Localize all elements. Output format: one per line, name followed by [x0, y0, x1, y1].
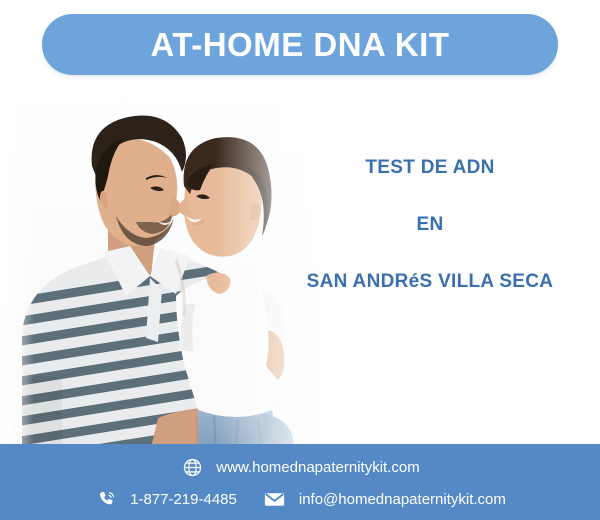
email-label: info@homednapaternitykit.com [299, 492, 506, 507]
banner-title: AT-HOME DNA KIT [151, 28, 450, 61]
headline-line-1: TEST DE ADN [268, 158, 592, 177]
footer-bar: www.homednapaternitykit.com 1-877-219-44… [0, 444, 600, 520]
headline-line-3: SAN ANDRéS VILLA SECA [268, 272, 592, 291]
headline-block: TEST DE ADN EN SAN ANDRéS VILLA SECA [268, 158, 592, 291]
headline-line-2: EN [268, 215, 592, 234]
footer-row-website: www.homednapaternitykit.com [0, 452, 600, 483]
website-label: www.homednapaternitykit.com [216, 460, 419, 475]
contact-website[interactable]: www.homednapaternitykit.com [180, 456, 419, 480]
contact-phone[interactable]: 1-877-219-4485 [94, 488, 237, 512]
globe-icon [180, 456, 204, 480]
poster-canvas: AT-HOME DNA KIT [0, 0, 600, 520]
phone-label: 1-877-219-4485 [130, 492, 237, 507]
envelope-icon [263, 488, 287, 512]
contact-email[interactable]: info@homednapaternitykit.com [263, 488, 506, 512]
phone-icon [94, 488, 118, 512]
footer-row-phone-email: 1-877-219-4485 info@homednapaternitykit.… [0, 484, 600, 515]
banner-pill: AT-HOME DNA KIT [42, 14, 558, 75]
